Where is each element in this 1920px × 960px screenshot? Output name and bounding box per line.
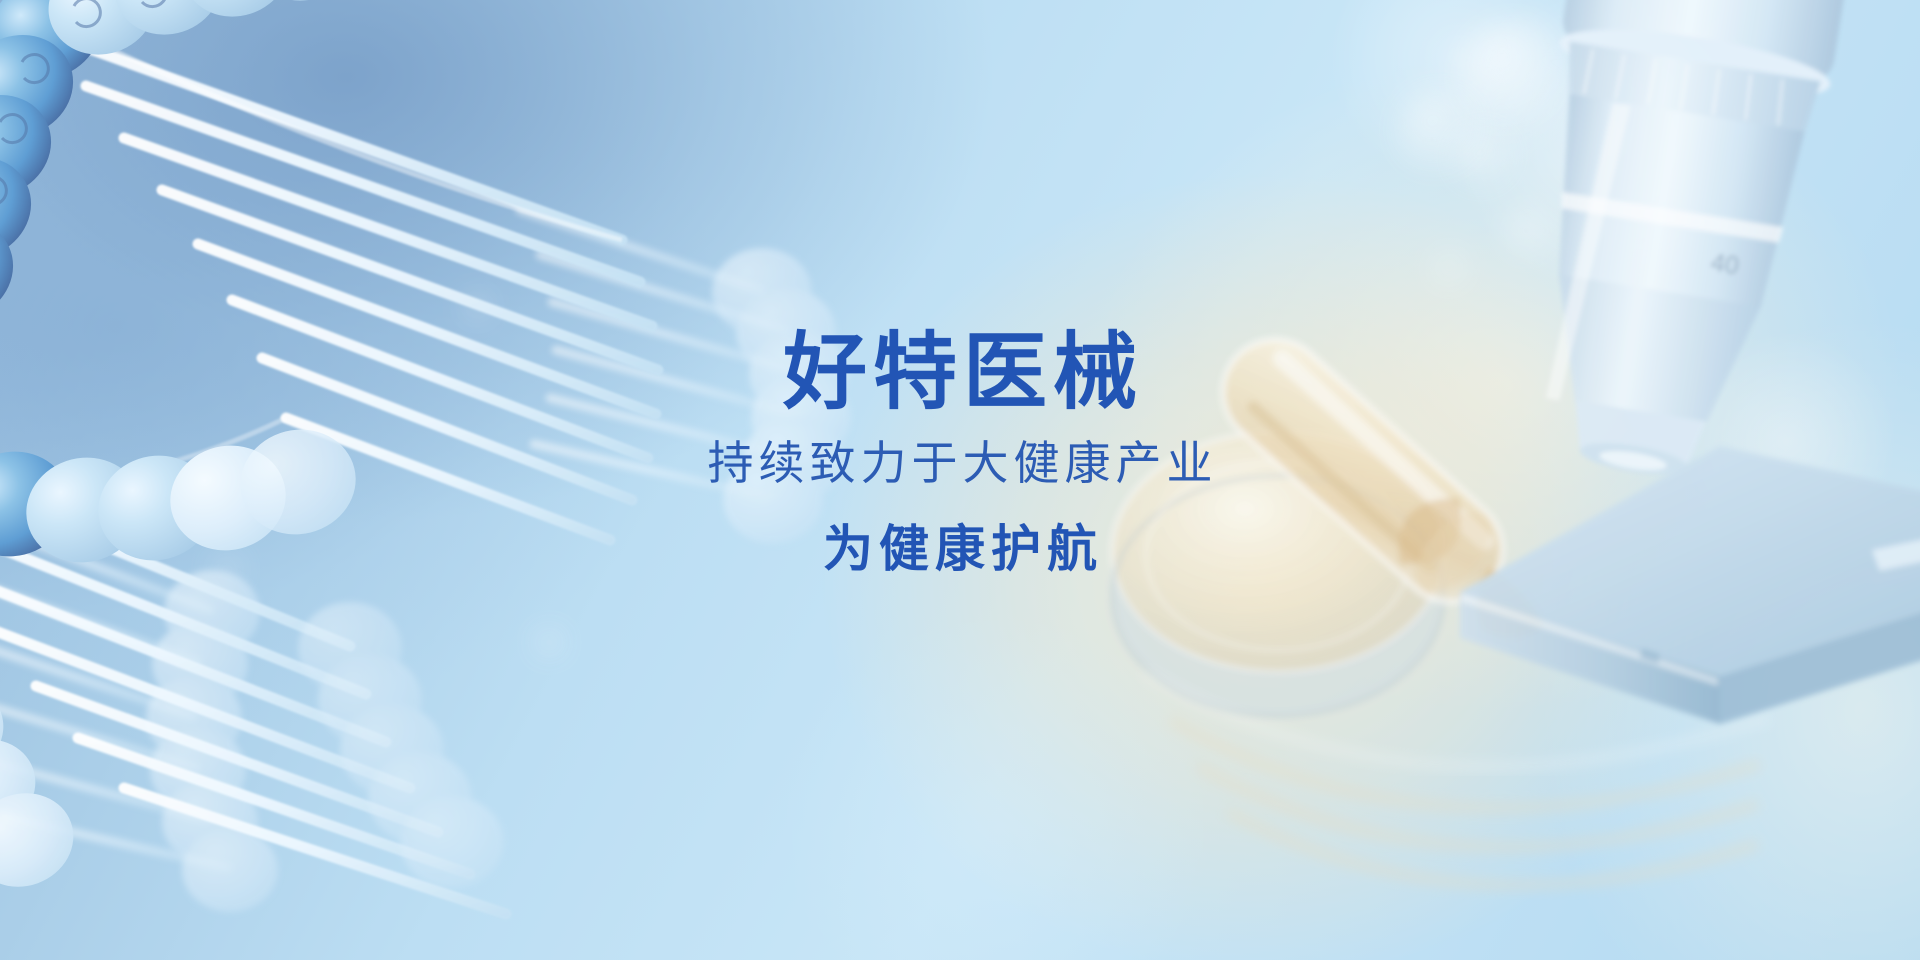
hero-banner: 40 [0,0,1920,960]
page-title: 好特医械 [0,330,1920,414]
banner-tagline: 为健康护航 [0,524,1920,574]
banner-copy: 好特医械 持续致力于大健康产业 为健康护航 [0,330,1920,574]
banner-subtitle: 持续致力于大健康产业 [0,440,1920,486]
